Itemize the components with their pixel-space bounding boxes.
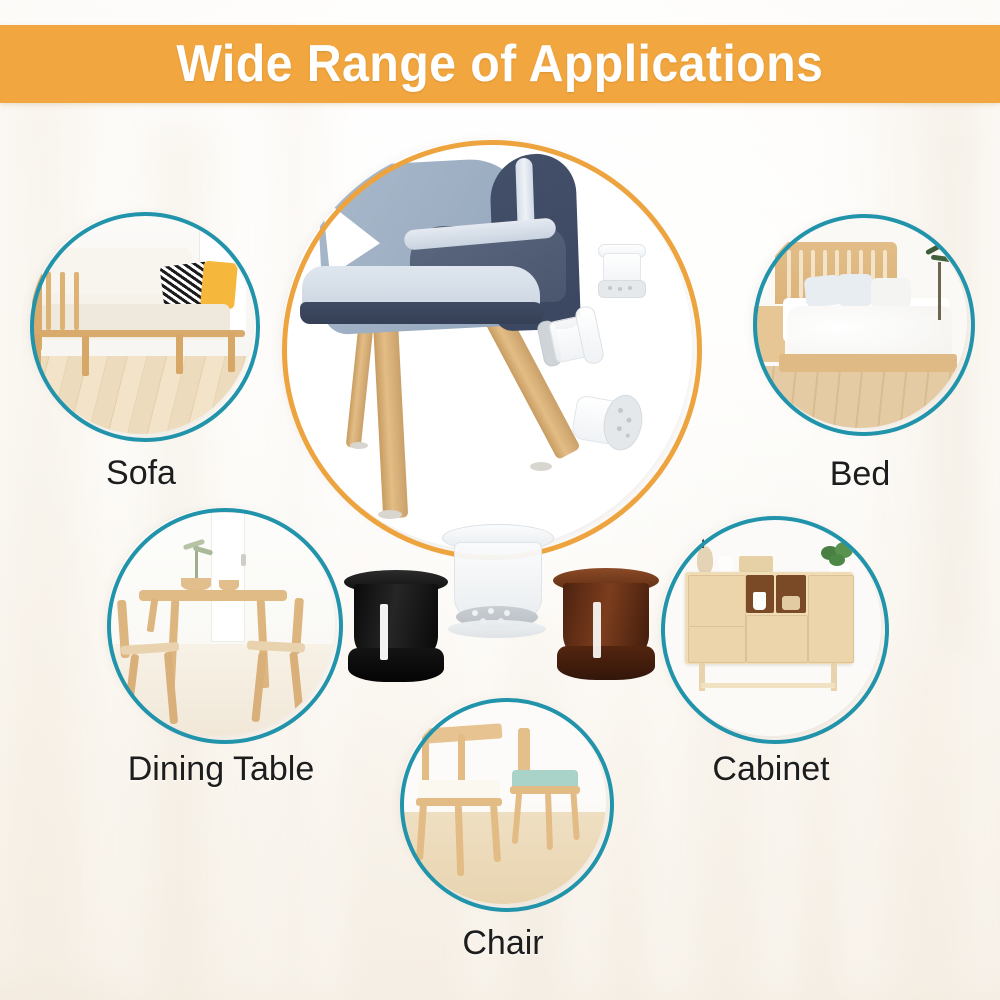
product-variant-clear[interactable]: [440, 524, 554, 642]
product-variant-brown[interactable]: [553, 568, 663, 684]
header-banner: Wide Range of Applications: [0, 25, 1000, 103]
sofa-photo: [30, 212, 252, 434]
bed-photo: [753, 214, 967, 428]
product-variant-black[interactable]: [344, 570, 452, 686]
plant-icon: [923, 236, 957, 322]
chair-photo: [400, 698, 606, 904]
leg-cap-sample-3: [569, 387, 646, 456]
leg-cap-sample-2: [534, 302, 608, 376]
cabinet-photo: [661, 516, 881, 736]
chair-label: Chair: [403, 926, 603, 960]
cabinet-label: Cabinet: [628, 752, 914, 786]
leg-cap-sample-1: [594, 244, 648, 298]
dining-table-label: Dining Table: [71, 752, 371, 786]
infographic-canvas: Wide Range of Applications: [0, 0, 1000, 1000]
page-title: Wide Range of Applications: [177, 38, 824, 90]
sofa-label: Sofa: [41, 456, 241, 490]
hero-photo: [282, 140, 692, 550]
bed-label: Bed: [760, 457, 960, 491]
